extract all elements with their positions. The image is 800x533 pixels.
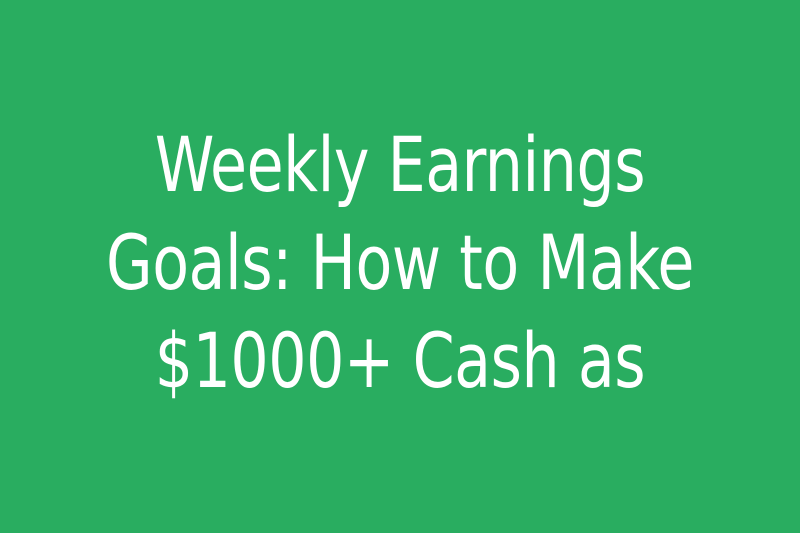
title-line-3: $1000+ Cash as bbox=[83, 312, 717, 410]
title-line-2: Goals: How to Make bbox=[83, 214, 717, 312]
page-title: Weekly Earnings Goals: How to Make $1000… bbox=[0, 116, 800, 410]
featured-image-card: Weekly Earnings Goals: How to Make $1000… bbox=[0, 0, 800, 533]
title-line-1: Weekly Earnings bbox=[83, 116, 717, 214]
